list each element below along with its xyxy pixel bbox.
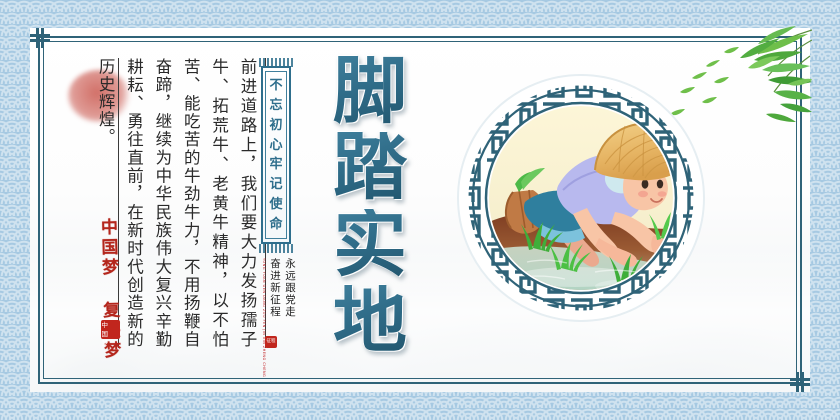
- poster-canvas: 前进道路上，我们要大力发扬孺子牛、拓荒牛、老黄牛精神，以不怕苦、能吃苦的牛劲牛力…: [0, 0, 840, 420]
- body-paragraph: 前进道路上，我们要大力发扬孺子牛、拓荒牛、老黄牛精神，以不怕苦、能吃苦的牛劲牛力…: [118, 58, 266, 348]
- title-char: 地: [333, 285, 407, 356]
- title-char: 实: [333, 209, 407, 280]
- plaque-char: 使: [269, 198, 282, 211]
- secondary-slogan: 永远跟党走 奋进新征程: [268, 258, 298, 336]
- circular-illustration: [455, 72, 707, 324]
- plaque-char: 不: [269, 79, 282, 92]
- seal-stamp-large: 中国梦: [101, 320, 120, 339]
- seal-stamp-small: 征程: [265, 336, 277, 348]
- corner-knot-bottom-right-icon: [790, 372, 810, 392]
- plaque-slogan-frame: 不 忘 初 心 牢 记 使 命: [261, 66, 291, 244]
- title-char: 脚: [333, 56, 407, 127]
- seal-small-text: 征程: [267, 339, 276, 345]
- seal-large-text: 中国梦: [102, 321, 111, 348]
- secondary-slogan-pinyin: YONG YUAN GEN DANG ZOU FEN JIN XIN ZHENG…: [262, 258, 266, 334]
- main-title: 脚 踏 实 地: [300, 56, 440, 356]
- plaque-char: 心: [269, 139, 282, 152]
- plaque-char: 牢: [269, 158, 282, 171]
- plaque-inner-frame: 不 忘 初 心 牢 记 使 命: [265, 71, 287, 239]
- plaque-ornament-bottom-icon: [259, 244, 293, 253]
- plaque-char: 记: [269, 178, 282, 191]
- farmer-planting-rice-illustration: [455, 72, 707, 324]
- plaque-char: 命: [269, 218, 282, 231]
- plaque-char: 忘: [269, 99, 282, 112]
- title-char: 踏: [333, 132, 407, 203]
- corner-knot-top-left-icon: [30, 28, 50, 48]
- plaque-char: 初: [269, 119, 282, 132]
